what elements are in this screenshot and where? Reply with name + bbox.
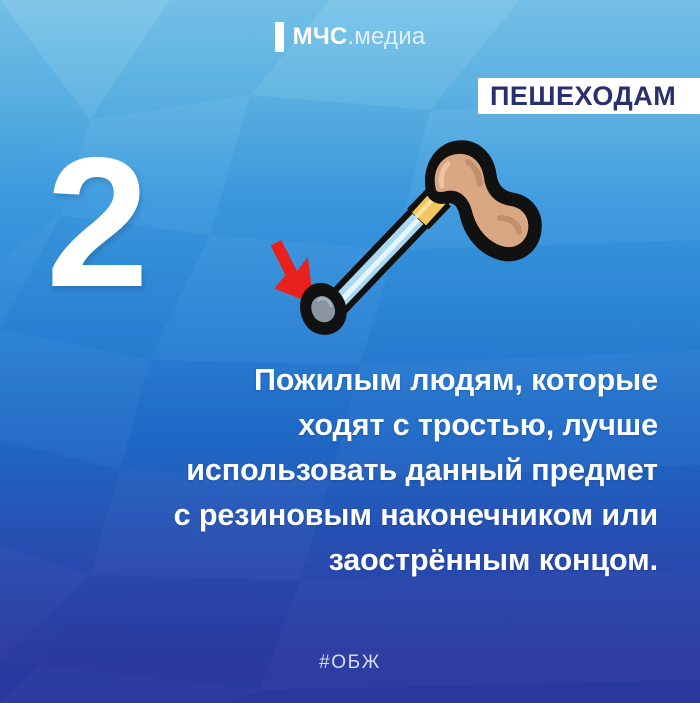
category-badge-label: ПЕШЕХОДАМ <box>490 83 676 110</box>
brand-name-bold: МЧС <box>293 23 348 50</box>
body-line-5: заострённым концом. <box>22 538 658 583</box>
brand-name-light: .медиа <box>347 23 425 50</box>
body-line-3: использовать данный предмет <box>22 448 658 493</box>
step-number: 2 <box>46 131 145 316</box>
body-line-4: с резиновым наконечником или <box>22 493 658 538</box>
category-badge: ПЕШЕХОДАМ <box>478 78 700 114</box>
poster-canvas: МЧС.медиа ПЕШЕХОДАМ 2 <box>0 0 700 703</box>
footer-hashtag: #ОБЖ <box>0 652 700 674</box>
brand-logo-text: МЧС.медиа <box>293 25 426 49</box>
brand-logo: МЧС.медиа <box>0 22 700 52</box>
vertical-bar-icon <box>275 22 284 52</box>
body-line-2: ходят с тростью, лучше <box>22 403 658 448</box>
cane-handle <box>432 148 534 254</box>
body-line-1: Пожилым людям, которые <box>22 358 658 403</box>
walking-cane-illustration <box>268 126 568 346</box>
cane-rubber-tip <box>307 289 341 328</box>
body-text: Пожилым людям, которые ходят с тростью, … <box>22 358 658 583</box>
